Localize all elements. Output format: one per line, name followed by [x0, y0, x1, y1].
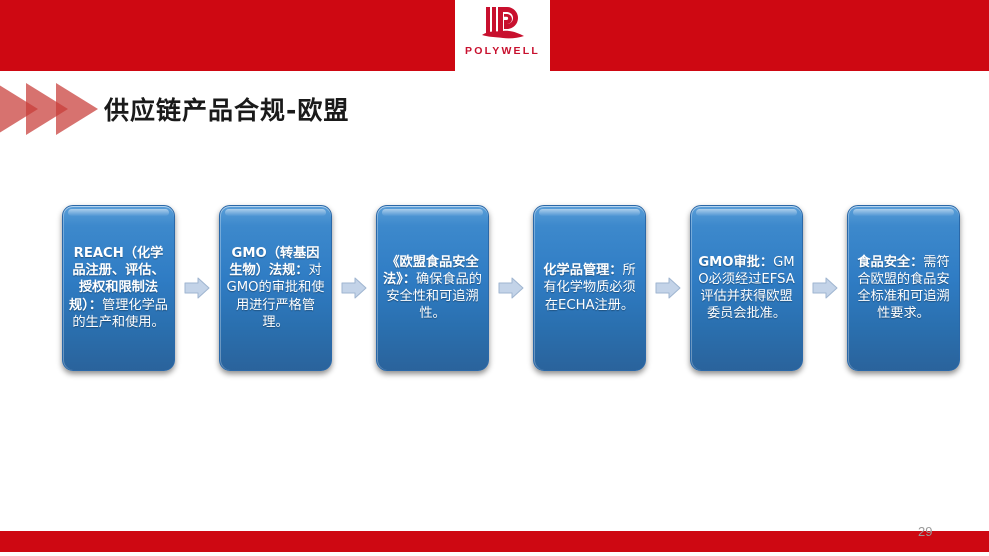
- flow-step-text: 食品安全：需符合欧盟的食品安全标准和可追溯性要求。: [853, 254, 954, 323]
- flow-step-eu-food-safety-law[interactable]: 《欧盟食品安全法》：确保食品的安全性和可追溯性。: [376, 205, 489, 371]
- polywell-p-logo-icon: [480, 4, 526, 44]
- compliance-flow-diagram: REACH（化学品注册、评估、授权和限制法规）：管理化学品的生产和使用。GMO（…: [62, 205, 932, 375]
- flow-connector-4: [646, 205, 690, 371]
- flow-step-text: 化学品管理：所有化学物质必须在ECHA注册。: [539, 262, 640, 313]
- flow-step-reach[interactable]: REACH（化学品注册、评估、授权和限制法规）：管理化学品的生产和使用。: [62, 205, 175, 371]
- right-arrow-icon: [498, 277, 524, 299]
- flow-step-heading: 食品安全：: [857, 255, 923, 270]
- brand-logo: POLYWELL: [455, 0, 550, 71]
- flow-step-gmo-regulation[interactable]: GMO（转基因生物）法规：对GMO的审批和使用进行严格管理。: [219, 205, 332, 371]
- flow-step-food-safety[interactable]: 食品安全：需符合欧盟的食品安全标准和可追溯性要求。: [847, 205, 960, 371]
- logo-wordmark: POLYWELL: [465, 45, 540, 57]
- title-row: 供应链产品合规-欧盟: [0, 71, 989, 145]
- flow-step-heading: 化学品管理：: [543, 263, 622, 278]
- right-arrow-icon: [655, 277, 681, 299]
- flow-step-text: GMO审批：GMO必须经过EFSA评估并获得欧盟委员会批准。: [696, 254, 797, 323]
- flow-connector-2: [332, 205, 376, 371]
- flow-connector-5: [803, 205, 847, 371]
- flow-step-heading: GMO审批：: [698, 255, 773, 270]
- footer-band: [0, 531, 989, 552]
- flow-connector-3: [489, 205, 533, 371]
- right-arrow-icon: [341, 277, 367, 299]
- page-number: 29: [918, 524, 932, 539]
- flow-connector-1: [175, 205, 219, 371]
- right-arrow-icon: [184, 277, 210, 299]
- flow-step-gmo-approval[interactable]: GMO审批：GMO必须经过EFSA评估并获得欧盟委员会批准。: [690, 205, 803, 371]
- flow-step-heading: GMO（转基因生物）法规：: [229, 246, 319, 278]
- page-title: 供应链产品合规-欧盟: [104, 91, 349, 127]
- chevron-arrow-icon-3: [56, 83, 98, 135]
- flow-step-text: 《欧盟食品安全法》：确保食品的安全性和可追溯性。: [382, 254, 483, 323]
- flow-step-text: REACH（化学品注册、评估、授权和限制法规）：管理化学品的生产和使用。: [68, 245, 169, 331]
- right-arrow-icon: [812, 277, 838, 299]
- flow-step-chemical-management[interactable]: 化学品管理：所有化学物质必须在ECHA注册。: [533, 205, 646, 371]
- flow-step-text: GMO（转基因生物）法规：对GMO的审批和使用进行严格管理。: [225, 245, 326, 331]
